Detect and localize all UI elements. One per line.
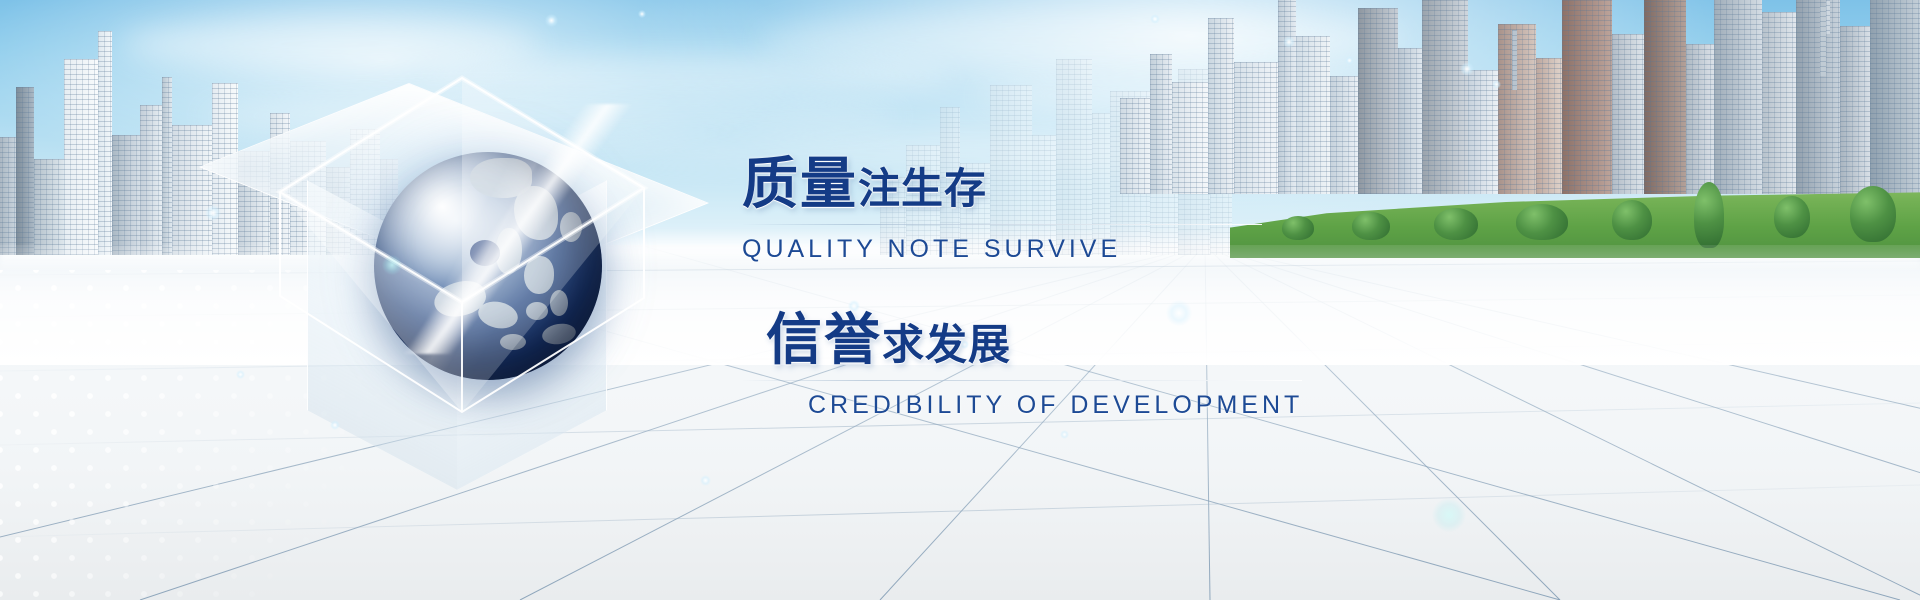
slogan-1: 质量注生存 QUALITY NOTE SURVIVE	[742, 156, 1342, 264]
slogan-1-rule	[742, 224, 1262, 225]
tree	[1352, 212, 1390, 240]
slogan-2-headline: 信誉求发展	[766, 312, 1342, 368]
tree	[1694, 182, 1724, 248]
tree	[1774, 196, 1810, 238]
glass-cube-globe	[252, 60, 672, 460]
slogan-1-emphasis: 质量	[742, 152, 858, 215]
slogan-1-english: QUALITY NOTE SURVIVE	[742, 235, 1342, 264]
slogan-2-english: CREDIBILITY OF DEVELOPMENT	[808, 391, 1342, 420]
slogan-1-rest: 注生存	[858, 165, 987, 212]
earth-globe	[374, 152, 602, 380]
slogan-2-emphasis: 信誉	[766, 308, 882, 371]
slogan-2-rest: 求发展	[882, 321, 1011, 368]
globe-rim	[374, 152, 602, 380]
tree	[1612, 200, 1652, 240]
tree	[1850, 186, 1896, 242]
tree	[1516, 204, 1568, 240]
slogan-2-rule	[742, 380, 1302, 381]
slogan-1-headline: 质量注生存	[742, 156, 1342, 212]
slogan-block: 质量注生存 QUALITY NOTE SURVIVE 信誉求发展 CREDIBI…	[742, 156, 1342, 420]
tree	[1434, 208, 1478, 240]
hero-banner: 质量注生存 QUALITY NOTE SURVIVE 信誉求发展 CREDIBI…	[0, 0, 1920, 600]
slogan-2: 信誉求发展 CREDIBILITY OF DEVELOPMENT	[742, 312, 1342, 420]
